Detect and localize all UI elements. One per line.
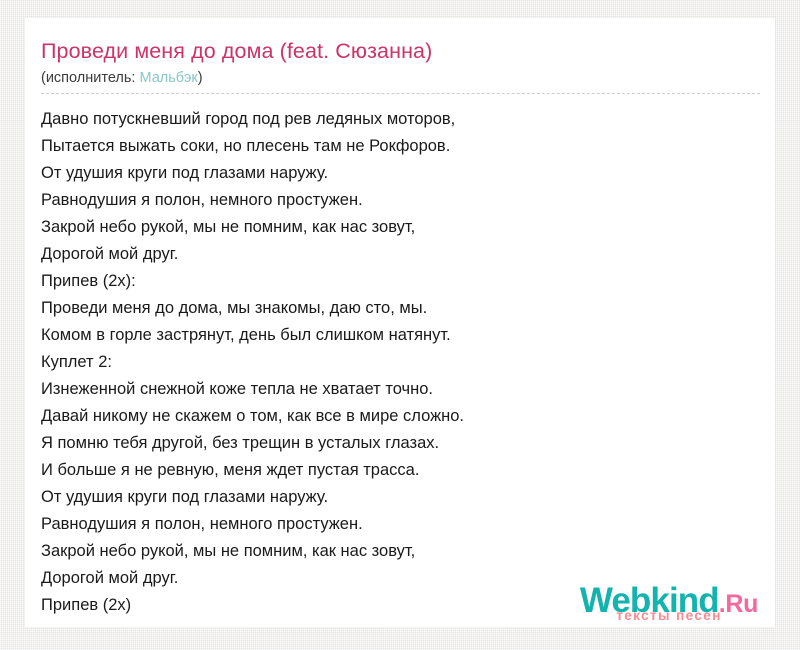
lyric-line: От удушия круги под глазами наружу. — [41, 484, 761, 511]
logo-wordmark: Webkind.Ru — [563, 583, 775, 618]
content-inner: Проведи меня до дома (feat. Сюзанна) (ис… — [41, 38, 761, 627]
logo-tld-text: .Ru — [719, 590, 758, 618]
lyric-line: Равнодушия я полон, немного простужен. — [41, 511, 761, 538]
lyric-line: Давно потускневший город под рев ледяных… — [41, 106, 761, 133]
lyric-line: И больше я не ревную, меня ждет пустая т… — [41, 457, 761, 484]
lyric-line: Закрой небо рукой, мы не помним, как нас… — [41, 538, 761, 565]
lyric-line: Припев (2х): — [41, 268, 761, 295]
artist-byline: (исполнитель: Мальбэк) — [41, 64, 761, 87]
page-root: Проведи меня до дома (feat. Сюзанна) (ис… — [0, 0, 800, 650]
lyric-line: Дорогой мой друг. — [41, 241, 761, 268]
lyric-line: Закрой небо рукой, мы не помним, как нас… — [41, 214, 761, 241]
page-title: Проведи меня до дома (feat. Сюзанна) — [41, 38, 761, 64]
lyric-line: Я помню тебя другой, без трещин в усталы… — [41, 430, 761, 457]
lyric-line: Равнодушия я полон, немного простужен. — [41, 187, 761, 214]
lyrics-body: Давно потускневший город под рев ледяных… — [41, 94, 761, 619]
byline-prefix-text: (исполнитель: — [41, 70, 139, 86]
lyric-line: Давай никому не скажем о том, как все в … — [41, 403, 761, 430]
lyric-line: Проведи меня до дома, мы знакомы, даю ст… — [41, 295, 761, 322]
lyric-line: Куплет 2: — [41, 349, 761, 376]
byline-suffix-text: ) — [198, 70, 203, 86]
content-sheet: Проведи меня до дома (feat. Сюзанна) (ис… — [25, 18, 775, 627]
lyric-line: Комом в горле застрянут, день был слишко… — [41, 322, 761, 349]
lyric-line: Изнеженной снежной коже тепла не хватает… — [41, 376, 761, 403]
artist-link[interactable]: Мальбэк — [139, 70, 197, 86]
logo-main-text: Webkind — [580, 581, 719, 620]
lyric-line: Пытается выжать соки, но плесень там не … — [41, 133, 761, 160]
site-logo[interactable]: Webkind.Ru тексты песен — [563, 583, 775, 629]
lyric-line: От удушия круги под глазами наружу. — [41, 160, 761, 187]
